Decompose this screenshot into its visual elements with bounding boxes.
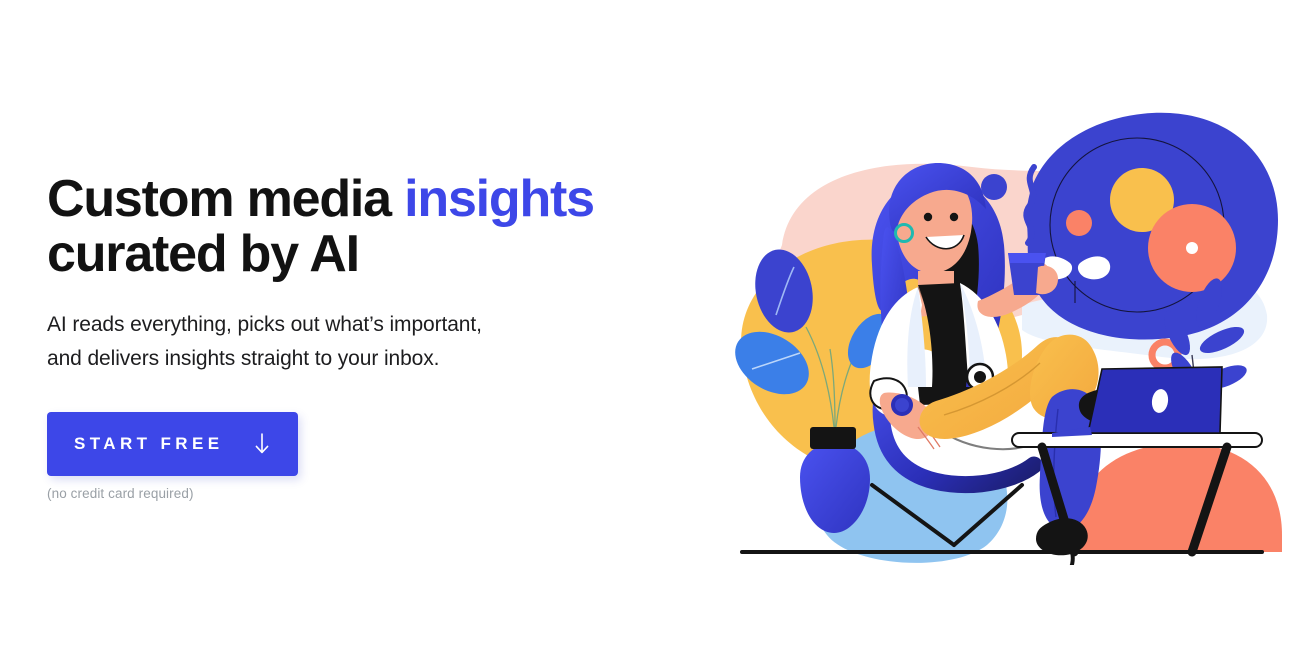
start-free-button[interactable]: START FREE xyxy=(47,412,298,476)
thought-bubble-blob xyxy=(1027,113,1278,340)
headline-line2: curated by AI xyxy=(47,225,359,283)
page-title: Custom media insightscurated by AI xyxy=(47,172,687,282)
plant-pot-neck xyxy=(810,427,856,449)
hero-copy: Custom media insightscurated by AI AI re… xyxy=(47,172,687,501)
headline-accent-word: insights xyxy=(404,170,594,228)
arrow-down-icon xyxy=(253,432,271,456)
hero-section: Custom media insightscurated by AI AI re… xyxy=(0,0,1308,655)
cta-disclaimer: (no credit card required) xyxy=(47,486,687,501)
floating-dot xyxy=(981,174,1007,200)
woman-relaxing-with-coffee-illustration xyxy=(722,105,1282,565)
headline-line1-pre: Custom media xyxy=(47,170,404,228)
hero-subheadline: AI reads everything, picks out what’s im… xyxy=(47,308,687,376)
coral-floor-blob xyxy=(1074,443,1282,552)
thought-bubble-coral-circle-dot xyxy=(1186,242,1198,254)
start-free-button-label: START FREE xyxy=(74,434,223,454)
thought-bubble-small-coral-circle xyxy=(1066,210,1092,236)
